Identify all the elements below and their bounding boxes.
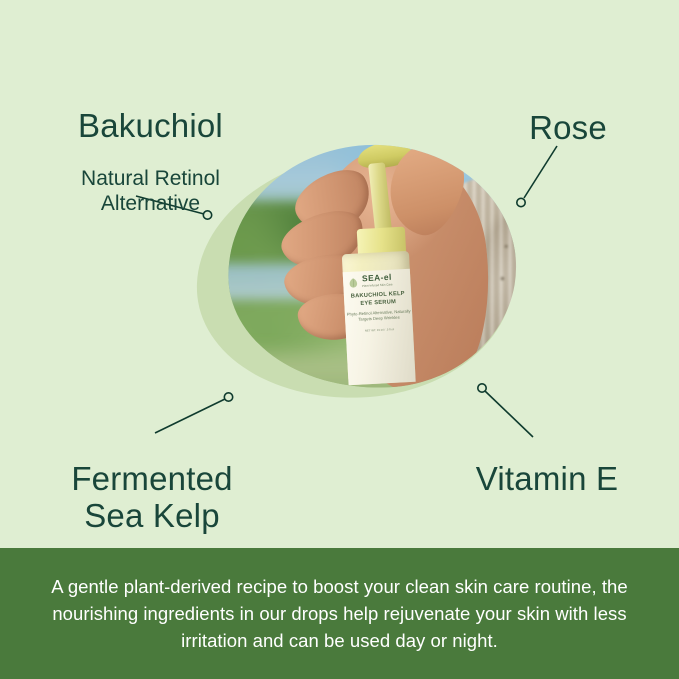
leader-endpoint-rose bbox=[517, 198, 525, 206]
ingredient-subtitle: Natural Retinol Alternative bbox=[28, 167, 273, 217]
bottle-product-name: BAKUCHIOL KELP EYE SERUM bbox=[343, 291, 411, 309]
ingredient-name: Fermented Sea Kelp bbox=[22, 461, 282, 535]
bottle-net-contents: NET WT. 15 ml / .5 fl oz bbox=[345, 327, 413, 334]
serum-bottle: SEA-el Plant-Infused Skin Care BAKUCHIOL… bbox=[341, 251, 415, 385]
leader-endpoint-vitamin-e bbox=[478, 384, 486, 392]
bottle-label: SEA-el Plant-Infused Skin Care BAKUCHIOL… bbox=[342, 269, 416, 385]
leaf-icon bbox=[346, 277, 358, 291]
ingredient-name: Rose bbox=[468, 110, 668, 147]
bottle-description: Phyto-Retinol Alternative, Naturally Tar… bbox=[344, 309, 412, 324]
ingredient-label-fermented-sea-kelp: Fermented Sea Kelp bbox=[22, 443, 282, 553]
leader-endpoint-sea-kelp bbox=[224, 393, 232, 401]
leader-line-sea-kelp bbox=[155, 399, 225, 433]
infographic-canvas: SEA-el Plant-Infused Skin Care BAKUCHIOL… bbox=[0, 0, 679, 679]
ingredient-name: Vitamin E bbox=[432, 461, 662, 498]
caption-text: A gentle plant-derived recipe to boost y… bbox=[22, 573, 658, 655]
ingredient-label-vitamin-e: Vitamin E bbox=[432, 443, 662, 516]
ingredient-name: Bakuchiol bbox=[28, 108, 273, 145]
ingredient-label-rose: Rose bbox=[468, 92, 668, 165]
ingredient-label-bakuchiol: Bakuchiol Natural Retinol Alternative bbox=[28, 90, 273, 234]
leader-line-vitamin-e bbox=[485, 391, 533, 437]
caption-band: A gentle plant-derived recipe to boost y… bbox=[0, 548, 679, 679]
